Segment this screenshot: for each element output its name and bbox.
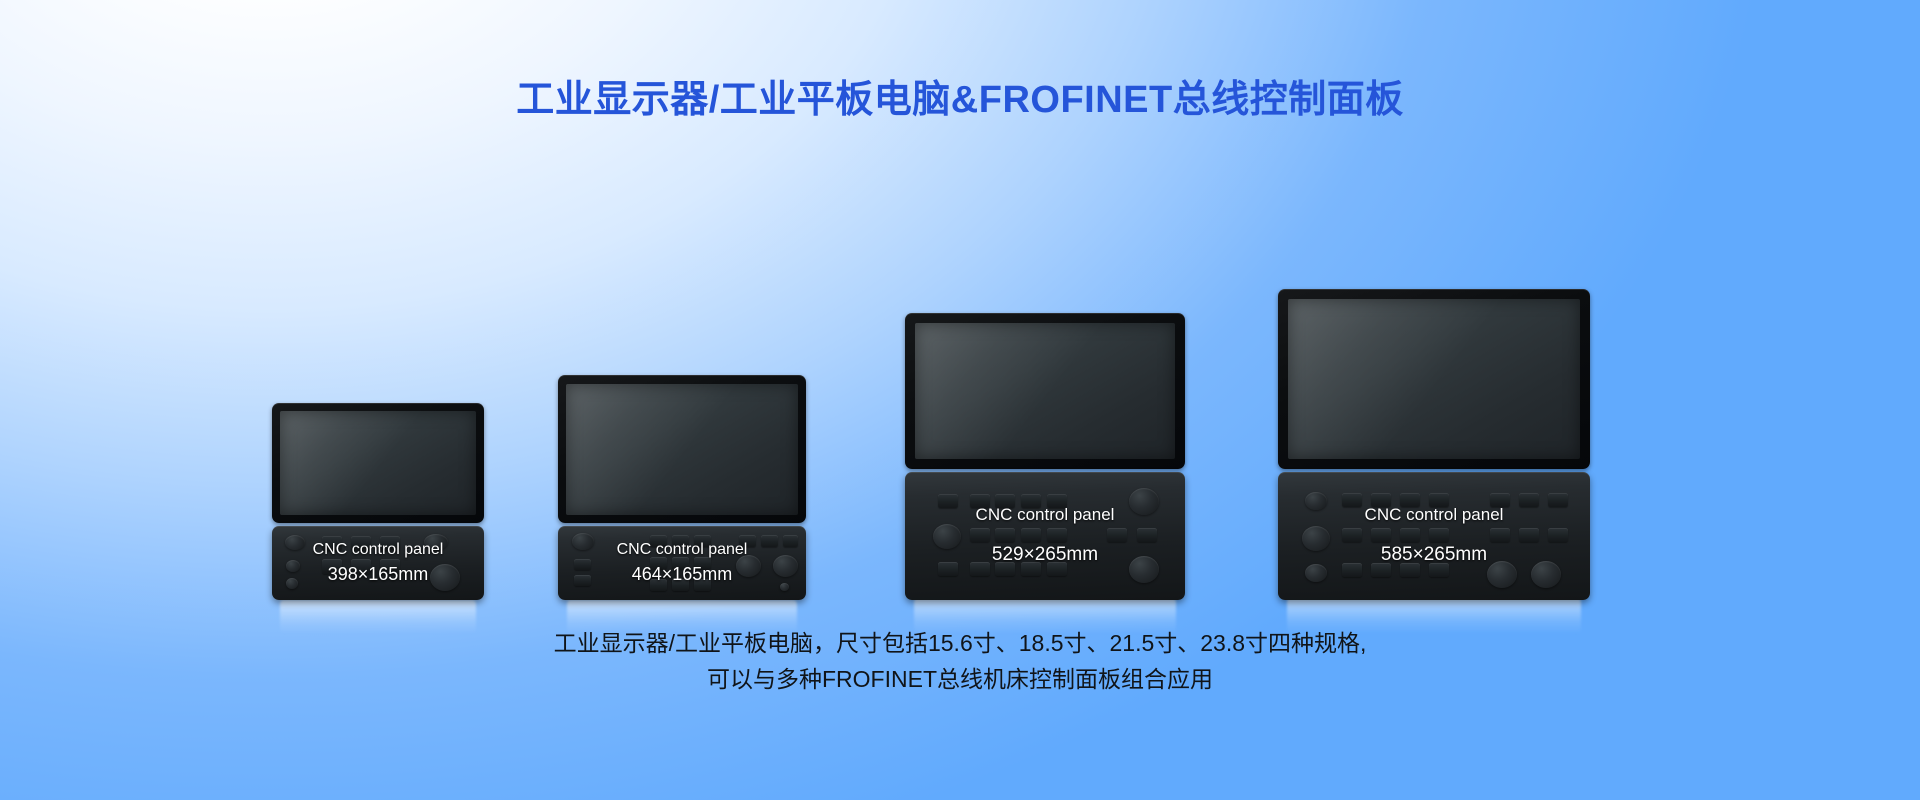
- panel-key[interactable]: [995, 528, 1015, 542]
- panel-keys: [905, 472, 1185, 600]
- panel-key[interactable]: [672, 557, 689, 569]
- monitor-screen: [280, 411, 476, 515]
- panel-key[interactable]: [1400, 528, 1420, 542]
- monitor-bezel: [905, 313, 1185, 469]
- panel-key[interactable]: [1400, 563, 1420, 577]
- monitor-bezel: [1278, 289, 1590, 469]
- device-lineup: CNC control panel 398×165mm: [0, 200, 1920, 600]
- panel-knob[interactable]: [1129, 488, 1159, 515]
- panel-key[interactable]: [1400, 493, 1420, 507]
- panel-knob[interactable]: [1305, 564, 1327, 582]
- panel-key[interactable]: [380, 536, 400, 551]
- panel-knob[interactable]: [285, 535, 305, 550]
- device-card-1[interactable]: CNC control panel 398×165mm: [272, 403, 484, 600]
- panel-key[interactable]: [970, 528, 990, 542]
- panel-key[interactable]: [1021, 562, 1041, 576]
- banner-stage: 工业显示器/工业平板电脑&FROFINET总线控制面板: [0, 0, 1920, 800]
- panel-key[interactable]: [739, 535, 756, 547]
- panel-key[interactable]: [1490, 493, 1510, 507]
- panel-key[interactable]: [322, 559, 342, 574]
- panel-knob[interactable]: [286, 578, 298, 589]
- device-card-2[interactable]: CNC control panel 464×165mm: [558, 375, 806, 600]
- panel-keys: [272, 526, 484, 600]
- panel-knob[interactable]: [773, 555, 798, 577]
- panel-key[interactable]: [938, 562, 958, 576]
- panel-key[interactable]: [1107, 528, 1127, 542]
- panel-key[interactable]: [672, 579, 689, 591]
- page-title: 工业显示器/工业平板电脑&FROFINET总线控制面板: [0, 68, 1920, 123]
- panel-key[interactable]: [650, 535, 667, 547]
- panel-key[interactable]: [574, 575, 591, 586]
- panel-key[interactable]: [380, 559, 400, 574]
- panel-key[interactable]: [574, 559, 591, 570]
- control-panel[interactable]: CNC control panel 529×265mm: [905, 472, 1185, 600]
- panel-knob[interactable]: [572, 533, 594, 550]
- panel-knob[interactable]: [1487, 561, 1517, 588]
- panel-knob[interactable]: [286, 560, 300, 572]
- panel-key[interactable]: [322, 536, 342, 551]
- panel-knob[interactable]: [933, 524, 961, 549]
- control-panel[interactable]: CNC control panel 398×165mm: [272, 526, 484, 600]
- caption-block: 工业显示器/工业平板电脑，尺寸包括15.6寸、18.5寸、21.5寸、23.8寸…: [0, 626, 1920, 697]
- caption-line-2: 可以与多种FROFINET总线机床控制面板组合应用: [0, 662, 1920, 698]
- panel-key[interactable]: [1047, 494, 1067, 508]
- panel-key[interactable]: [351, 536, 371, 551]
- panel-key[interactable]: [1548, 528, 1568, 542]
- panel-key[interactable]: [1519, 493, 1539, 507]
- panel-knob[interactable]: [1305, 492, 1327, 510]
- panel-key[interactable]: [970, 494, 990, 508]
- panel-key[interactable]: [1137, 528, 1157, 542]
- panel-key[interactable]: [1047, 562, 1067, 576]
- panel-key[interactable]: [1021, 494, 1041, 508]
- panel-knob[interactable]: [736, 555, 761, 577]
- monitor-bezel: [558, 375, 806, 523]
- panel-knob[interactable]: [424, 534, 448, 550]
- panel-key[interactable]: [1342, 528, 1362, 542]
- panel-keys: [558, 526, 806, 600]
- panel-key[interactable]: [650, 557, 667, 569]
- monitor-bezel: [272, 403, 484, 523]
- monitor-screen: [1288, 299, 1580, 459]
- panel-key[interactable]: [1047, 528, 1067, 542]
- panel-key[interactable]: [938, 494, 958, 508]
- panel-key[interactable]: [650, 579, 667, 591]
- monitor-screen: [566, 384, 798, 515]
- monitor-screen: [915, 323, 1175, 459]
- caption-line-1: 工业显示器/工业平板电脑，尺寸包括15.6寸、18.5寸、21.5寸、23.8寸…: [0, 626, 1920, 662]
- panel-key[interactable]: [694, 535, 711, 547]
- panel-key[interactable]: [761, 535, 778, 547]
- panel-key[interactable]: [1371, 493, 1391, 507]
- device-card-3[interactable]: CNC control panel 529×265mm: [905, 313, 1185, 600]
- panel-key[interactable]: [1342, 563, 1362, 577]
- panel-key[interactable]: [1490, 528, 1510, 542]
- panel-key[interactable]: [995, 562, 1015, 576]
- panel-key[interactable]: [694, 579, 711, 591]
- panel-key[interactable]: [1371, 528, 1391, 542]
- panel-knob[interactable]: [1129, 556, 1159, 583]
- panel-key[interactable]: [694, 557, 711, 569]
- control-panel[interactable]: CNC control panel 585×265mm: [1278, 472, 1590, 600]
- panel-key[interactable]: [1519, 528, 1539, 542]
- panel-key[interactable]: [1429, 563, 1449, 577]
- panel-key[interactable]: [1429, 528, 1449, 542]
- panel-key[interactable]: [1371, 563, 1391, 577]
- panel-knob[interactable]: [430, 564, 460, 591]
- panel-key[interactable]: [783, 535, 798, 547]
- panel-key[interactable]: [1548, 493, 1568, 507]
- device-card-4[interactable]: CNC control panel 585×265mm: [1278, 289, 1590, 600]
- panel-key[interactable]: [970, 562, 990, 576]
- panel-key[interactable]: [995, 494, 1015, 508]
- panel-knob[interactable]: [780, 583, 789, 591]
- panel-keys: [1278, 472, 1590, 600]
- panel-key[interactable]: [1342, 493, 1362, 507]
- panel-key[interactable]: [672, 535, 689, 547]
- panel-key[interactable]: [351, 559, 371, 574]
- panel-key[interactable]: [1021, 528, 1041, 542]
- panel-knob[interactable]: [1302, 526, 1330, 551]
- panel-knob[interactable]: [1531, 561, 1561, 588]
- panel-key[interactable]: [1429, 493, 1449, 507]
- control-panel[interactable]: CNC control panel 464×165mm: [558, 526, 806, 600]
